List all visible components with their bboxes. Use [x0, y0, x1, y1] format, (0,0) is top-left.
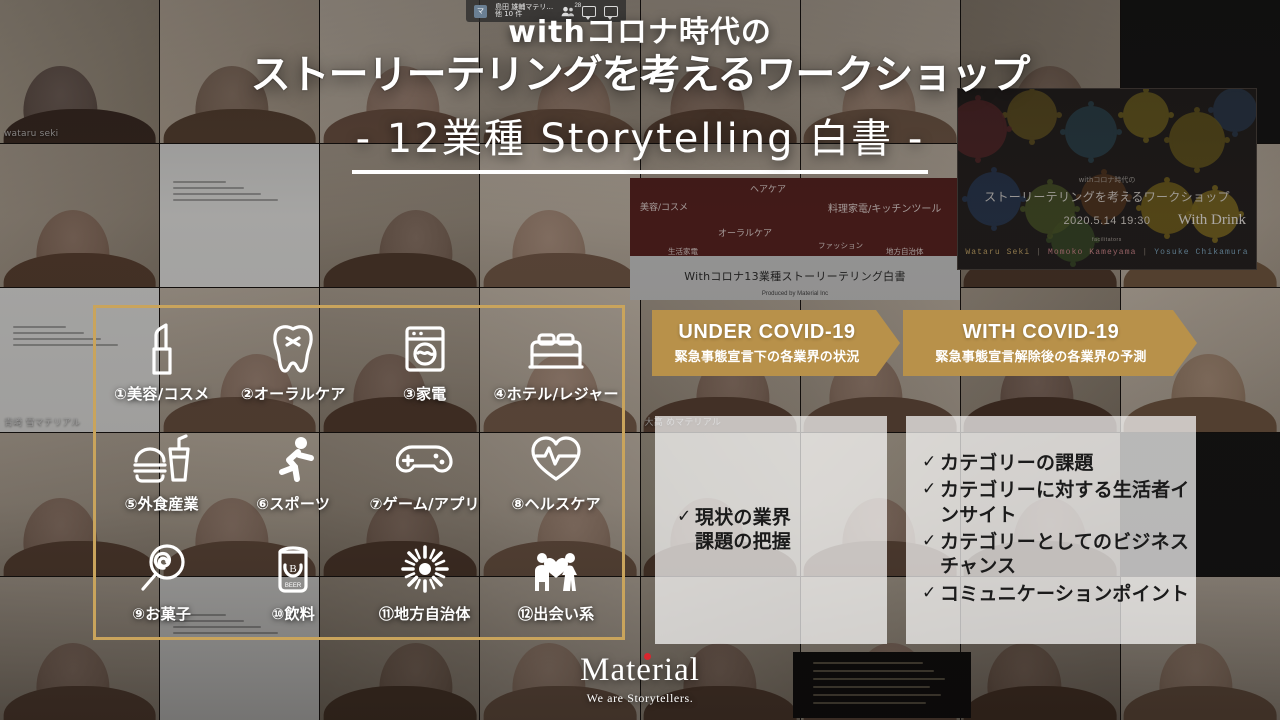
phase-banner-with-covid-jp: 緊急事態宣言解除後の各業界の予測	[935, 346, 1164, 365]
slide-canvas: wataru seki青崎 雪マテリアル大高 めマテリアル 美容/コスメヘアケア…	[0, 0, 1280, 720]
category-label: ⑧ヘルスケア	[511, 493, 601, 514]
washing-machine-icon	[402, 321, 448, 377]
phase-banner-with-covid: WITH COVID-19 緊急事態宣言解除後の各業界の予測	[903, 310, 1197, 376]
category-label: ①美容/コスメ	[114, 383, 209, 404]
share-slide-drink: With Drink	[1178, 212, 1246, 229]
phase-banner-with-covid-en: WITH COVID-19	[963, 321, 1138, 344]
category-cloud-slide: 美容/コスメヘアケア料理家電/キッチンツールオーラルケア生活家電ファッション地方…	[630, 178, 960, 300]
category-label: ②オーラルケア	[241, 383, 346, 404]
runner-icon	[268, 431, 318, 487]
category-cell-11: ⑪地方自治体	[359, 527, 491, 637]
deliverable-item: ✓カテゴリーとしてのビジネスチャンス	[922, 530, 1190, 579]
headline-block: withコロナ時代の ストーリーテリングを考えるワークショップ - 12業種 S…	[0, 18, 1280, 174]
facilitator-3: Yosuke Chikamura	[1154, 248, 1248, 257]
panel-current-issues: ✓ 現状の業界 課題の把握	[655, 416, 887, 644]
share-slide-facilitators-label: facilitators	[958, 237, 1256, 243]
category-grid: ①美容/コスメ②オーラルケア③家電④ホテル/レジャー⑤外食産業⑥スポーツ⑦ゲーム…	[93, 305, 625, 640]
phase-banner-under-covid-jp: 緊急事態宣言下の各業界の状況	[675, 346, 878, 365]
deliverable-item: ✓コミュニケーションポイント	[922, 582, 1190, 606]
phase-banner-under-covid: UNDER COVID-19 緊急事態宣言下の各業界の状況	[652, 310, 900, 376]
category-label: ⑪地方自治体	[379, 603, 471, 624]
lollipop-icon	[137, 541, 187, 597]
brand-logo: Material	[580, 654, 700, 687]
cloud-footer-title: Withコロナ13業種ストーリーテリング白書	[630, 268, 960, 284]
deliverable-item: ✓カテゴリーに対する生活者インサイト	[922, 478, 1190, 527]
page-subtitle: - 12業種 Storytelling 白書 -	[352, 106, 929, 174]
lipstick-icon	[142, 321, 182, 377]
category-label: ⑦ゲーム/アプリ	[370, 493, 480, 514]
category-cell-7: ⑦ゲーム/アプリ	[359, 418, 491, 528]
category-cell-1: ①美容/コスメ	[96, 308, 228, 418]
checklist-item-line2: 課題の把握	[695, 531, 791, 553]
deliverable-item-text: カテゴリーとしてのビジネスチャンス	[940, 530, 1190, 579]
category-cell-5: ⑤外食産業	[96, 418, 228, 528]
cloud-slide-footer: Withコロナ13業種ストーリーテリング白書 Produced by Mater…	[630, 256, 960, 300]
category-label: ⑩飲料	[271, 603, 315, 624]
cloud-footer-credit: Produced by Material Inc	[630, 291, 960, 297]
category-label: ⑥スポーツ	[256, 493, 330, 514]
share-slide-facilitators: Wataru Seki | Momoko Kameyama | Yosuke C…	[958, 248, 1256, 257]
brand-logo-text: Material	[580, 652, 700, 688]
cloud-word: ファッション	[818, 240, 863, 251]
facilitator-2: Momoko Kameyama	[1048, 248, 1137, 257]
deliverable-item-text: コミュニケーションポイント	[940, 582, 1189, 606]
tile-nametag: 青崎 雪マテリアル	[4, 415, 81, 428]
facilitator-1: Wataru Seki	[965, 248, 1030, 257]
page-title: ストーリーテリングを考えるワークショップ	[0, 56, 1280, 94]
checklist-item-line1: 現状の業界	[695, 507, 791, 529]
svg-text:B: B	[290, 563, 297, 575]
category-cell-9: ⑨お菓子	[96, 527, 228, 637]
deliverable-item-text: カテゴリーの課題	[940, 451, 1094, 475]
category-cell-4: ④ホテル/レジャー	[491, 308, 623, 418]
check-icon: ✓	[922, 451, 935, 473]
category-cell-3: ③家電	[359, 308, 491, 418]
category-label: ⑫出会い系	[518, 603, 595, 624]
category-label: ④ホテル/レジャー	[494, 383, 619, 404]
facilitator-separator-1: |	[1036, 248, 1042, 257]
svg-text:BEER: BEER	[285, 583, 302, 589]
checklist-item-text: 現状の業界 課題の把握	[695, 506, 791, 555]
document-lines	[173, 181, 307, 205]
burger-drink-icon	[132, 431, 192, 487]
couple-heart-icon	[529, 541, 583, 597]
participant-count-value: 28	[575, 3, 582, 9]
category-label: ⑤外食産業	[125, 493, 199, 514]
beer-can-icon: BBEER	[273, 541, 313, 597]
share-slide-eyebrow: withコロナ時代の	[958, 175, 1256, 185]
category-label: ③家電	[403, 383, 447, 404]
checklist-item: ✓ 現状の業界 課題の把握	[677, 506, 887, 555]
cloud-word: 料理家電/キッチンツール	[828, 200, 941, 215]
category-cell-12: ⑫出会い系	[491, 527, 623, 637]
category-label: ⑨お菓子	[132, 603, 191, 624]
cloud-word: 美容/コスメ	[640, 200, 688, 213]
check-icon: ✓	[677, 506, 690, 528]
participant-avatar: マ	[474, 5, 487, 18]
category-cell-10: BBEER⑩飲料	[228, 527, 360, 637]
check-icon: ✓	[922, 582, 935, 604]
fireworks-icon	[398, 541, 452, 597]
facilitator-separator-2: |	[1142, 248, 1148, 257]
share-slide-title: ストーリーテリングを考えるワークショップ	[958, 188, 1256, 205]
category-cell-2: ②オーラルケア	[228, 308, 360, 418]
cloud-word: オーラルケア	[718, 226, 772, 239]
deliverable-item: ✓カテゴリーの課題	[922, 451, 1190, 475]
phase-banner-under-covid-en: UNDER COVID-19	[678, 321, 873, 344]
eyebrow-text: withコロナ時代の	[0, 18, 1280, 48]
cloud-word: ヘアケア	[750, 182, 786, 195]
bed-icon	[527, 321, 585, 377]
deliverables-list: ✓カテゴリーの課題✓カテゴリーに対する生活者インサイト✓カテゴリーとしてのビジネ…	[906, 451, 1196, 609]
category-cell-6: ⑥スポーツ	[228, 418, 360, 528]
panel-deliverables: ✓カテゴリーの課題✓カテゴリーに対する生活者インサイト✓カテゴリーとしてのビジネ…	[906, 416, 1196, 644]
tooth-icon	[270, 321, 316, 377]
check-icon: ✓	[922, 530, 935, 552]
brand-tagline: We are Storytellers.	[0, 691, 1280, 706]
brand-footer: Material We are Storytellers.	[0, 654, 1280, 706]
gamepad-icon	[396, 431, 454, 487]
check-icon: ✓	[922, 478, 935, 500]
heart-pulse-icon	[530, 431, 582, 487]
category-cell-8: ⑧ヘルスケア	[491, 418, 623, 528]
deliverable-item-text: カテゴリーに対する生活者インサイト	[940, 478, 1190, 527]
